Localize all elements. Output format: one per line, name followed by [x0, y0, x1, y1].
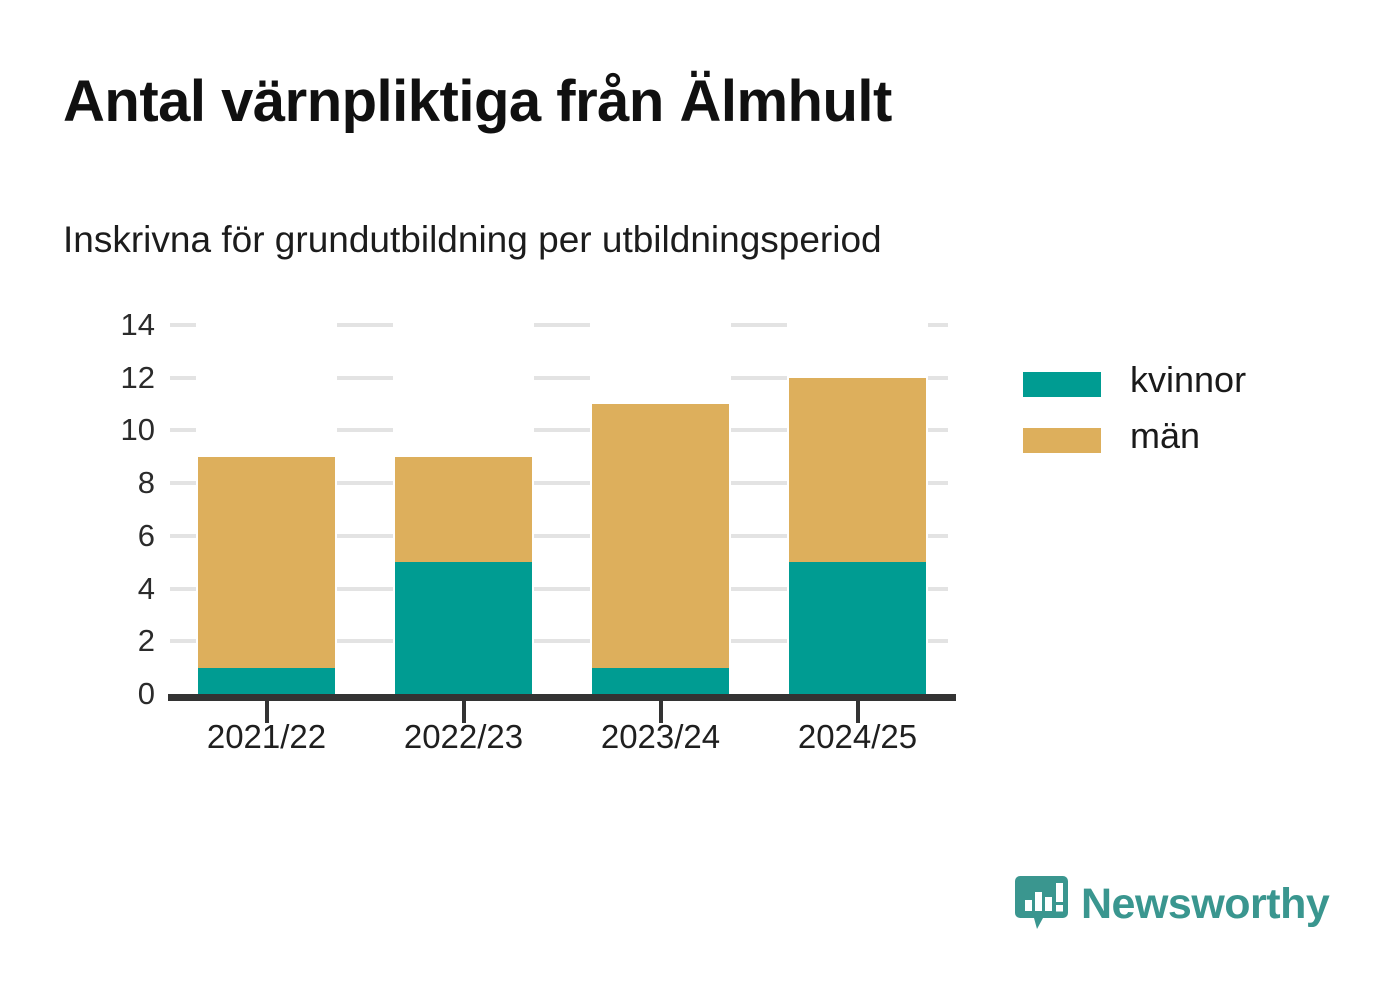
gridline	[170, 639, 196, 643]
gridline	[731, 587, 787, 591]
gridline	[731, 639, 787, 643]
gridline	[928, 323, 948, 327]
gridline	[170, 481, 196, 485]
gridline	[337, 428, 393, 432]
y-axis-tick-label: 0	[95, 678, 155, 709]
gridline	[731, 428, 787, 432]
gridline	[337, 587, 393, 591]
bar-segment-män[interactable]	[395, 457, 532, 562]
gridline	[731, 481, 787, 485]
gridline	[170, 376, 196, 380]
x-axis-line	[168, 694, 956, 701]
newsworthy-wordmark: Newsworthy	[1081, 883, 1329, 926]
gridline	[170, 323, 196, 327]
gridline	[337, 481, 393, 485]
y-axis-tick-label: 12	[95, 362, 155, 393]
gridline	[534, 323, 590, 327]
y-axis-tick-label: 10	[95, 414, 155, 445]
legend-swatch-kvinnor	[1023, 372, 1101, 397]
gridline	[337, 376, 393, 380]
gridline	[534, 534, 590, 538]
y-axis-tick-label: 8	[95, 467, 155, 498]
gridline	[928, 481, 948, 485]
newsworthy-logo: Newsworthy	[1013, 873, 1329, 935]
x-axis-tick-label: 2022/23	[354, 718, 574, 756]
gridline	[731, 534, 787, 538]
legend-swatch-män	[1023, 428, 1101, 453]
gridline	[731, 376, 787, 380]
bar-stack[interactable]	[592, 325, 729, 694]
gridline	[534, 376, 590, 380]
legend-label-kvinnor: kvinnor	[1130, 359, 1246, 401]
bar-segment-kvinnor[interactable]	[592, 668, 729, 694]
bar-stack[interactable]	[198, 325, 335, 694]
x-axis-tick-label: 2024/25	[748, 718, 968, 756]
gridline	[928, 534, 948, 538]
y-axis-tick-label: 2	[95, 625, 155, 656]
y-axis-tick-label: 4	[95, 573, 155, 604]
y-axis-tick-label: 14	[95, 309, 155, 340]
gridline	[534, 481, 590, 485]
bar-segment-kvinnor[interactable]	[395, 562, 532, 694]
bar-segment-män[interactable]	[592, 404, 729, 668]
gridline	[170, 587, 196, 591]
gridline	[928, 587, 948, 591]
gridline	[534, 428, 590, 432]
gridline	[928, 376, 948, 380]
gridline	[534, 639, 590, 643]
y-axis-tick-label: 6	[95, 520, 155, 551]
bar-segment-män[interactable]	[198, 457, 335, 668]
gridline	[337, 323, 393, 327]
gridline	[534, 587, 590, 591]
gridline	[170, 428, 196, 432]
gridline	[928, 639, 948, 643]
gridline	[731, 323, 787, 327]
gridline	[928, 428, 948, 432]
gridline	[337, 534, 393, 538]
gridline	[337, 639, 393, 643]
chart-plot-area: 02468101214 2021/222022/232023/242024/25	[0, 0, 1382, 999]
gridline	[170, 534, 196, 538]
bar-segment-män[interactable]	[789, 378, 926, 563]
x-axis-tick-label: 2021/22	[157, 718, 377, 756]
bar-segment-kvinnor[interactable]	[789, 562, 926, 694]
newsworthy-bar-chart-bubble-icon	[1013, 873, 1070, 935]
x-axis-tick-label: 2023/24	[551, 718, 771, 756]
bar-segment-kvinnor[interactable]	[198, 668, 335, 694]
bar-stack[interactable]	[395, 325, 532, 694]
bar-stack[interactable]	[789, 325, 926, 694]
legend-label-män: män	[1130, 415, 1200, 457]
